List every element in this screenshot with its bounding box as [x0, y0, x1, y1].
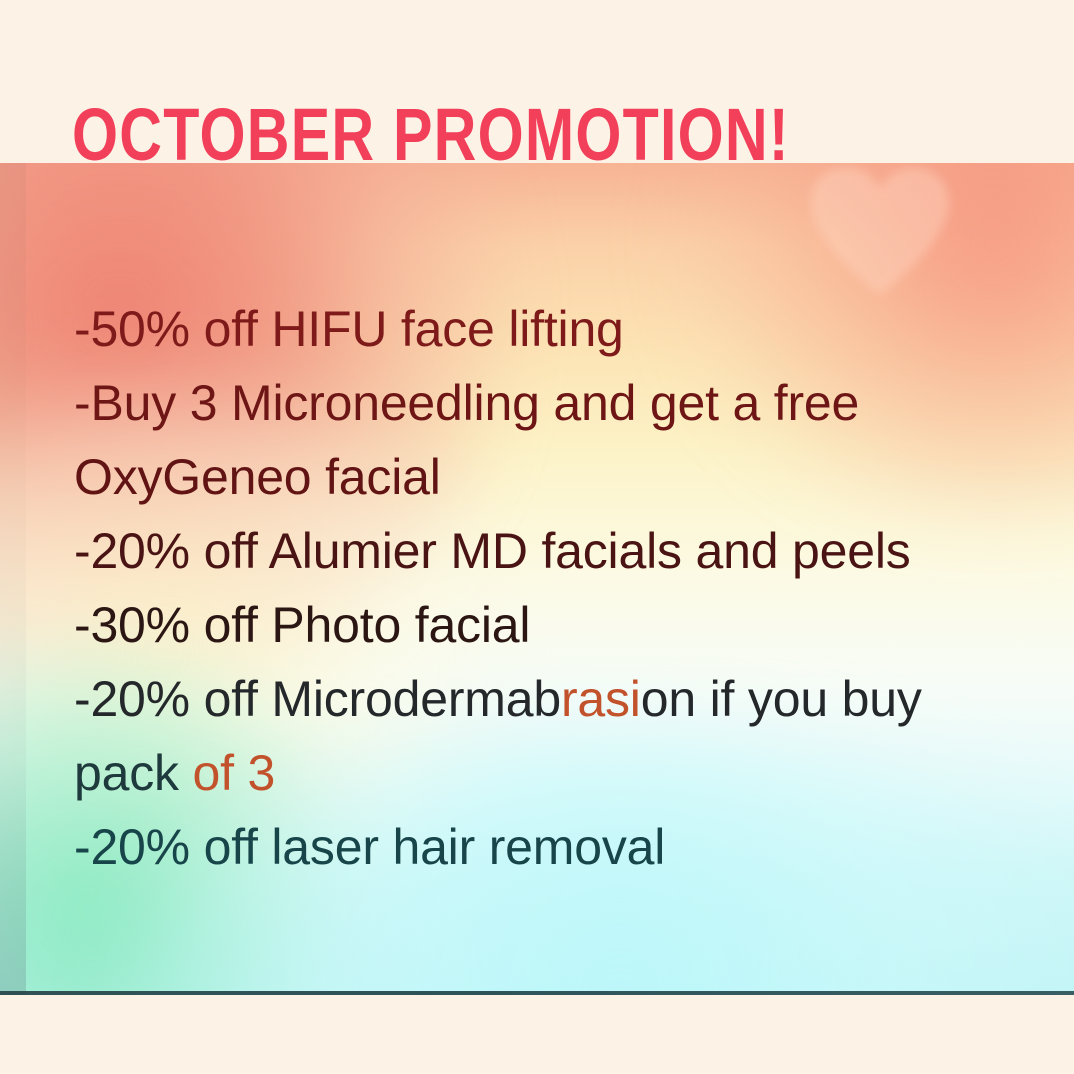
offer-list: -50% off HIFU face lifting -Buy 3 Micron… [74, 292, 1034, 884]
offer-line: -20% off Microdermabrasion if you buy [74, 662, 1034, 736]
offer-line: -20% off laser hair removal [74, 810, 1034, 884]
promotion-poster: OCTOBER PROMOTION! -50% off HIFU face li… [0, 0, 1074, 1074]
left-edge-vignette [0, 163, 26, 995]
offer-text-run: -20% off Microdermab [74, 671, 561, 727]
offer-line: -50% off HIFU face lifting [74, 292, 1034, 366]
offer-line: -30% off Photo facial [74, 588, 1034, 662]
offer-line: OxyGeneo facial [74, 440, 1034, 514]
offer-text-run: pack [74, 745, 193, 801]
offer-text-run: rasi [561, 671, 641, 727]
offer-text-run: on if you buy [641, 671, 922, 727]
page-title: OCTOBER PROMOTION! [72, 98, 790, 172]
card-bottom-rule [0, 991, 1074, 995]
offer-line: -20% off Alumier MD facials and peels [74, 514, 1034, 588]
offer-line: pack of 3 [74, 736, 1034, 810]
offer-text-run: of 3 [193, 745, 276, 801]
offer-line: -Buy 3 Microneedling and get a free [74, 366, 1034, 440]
